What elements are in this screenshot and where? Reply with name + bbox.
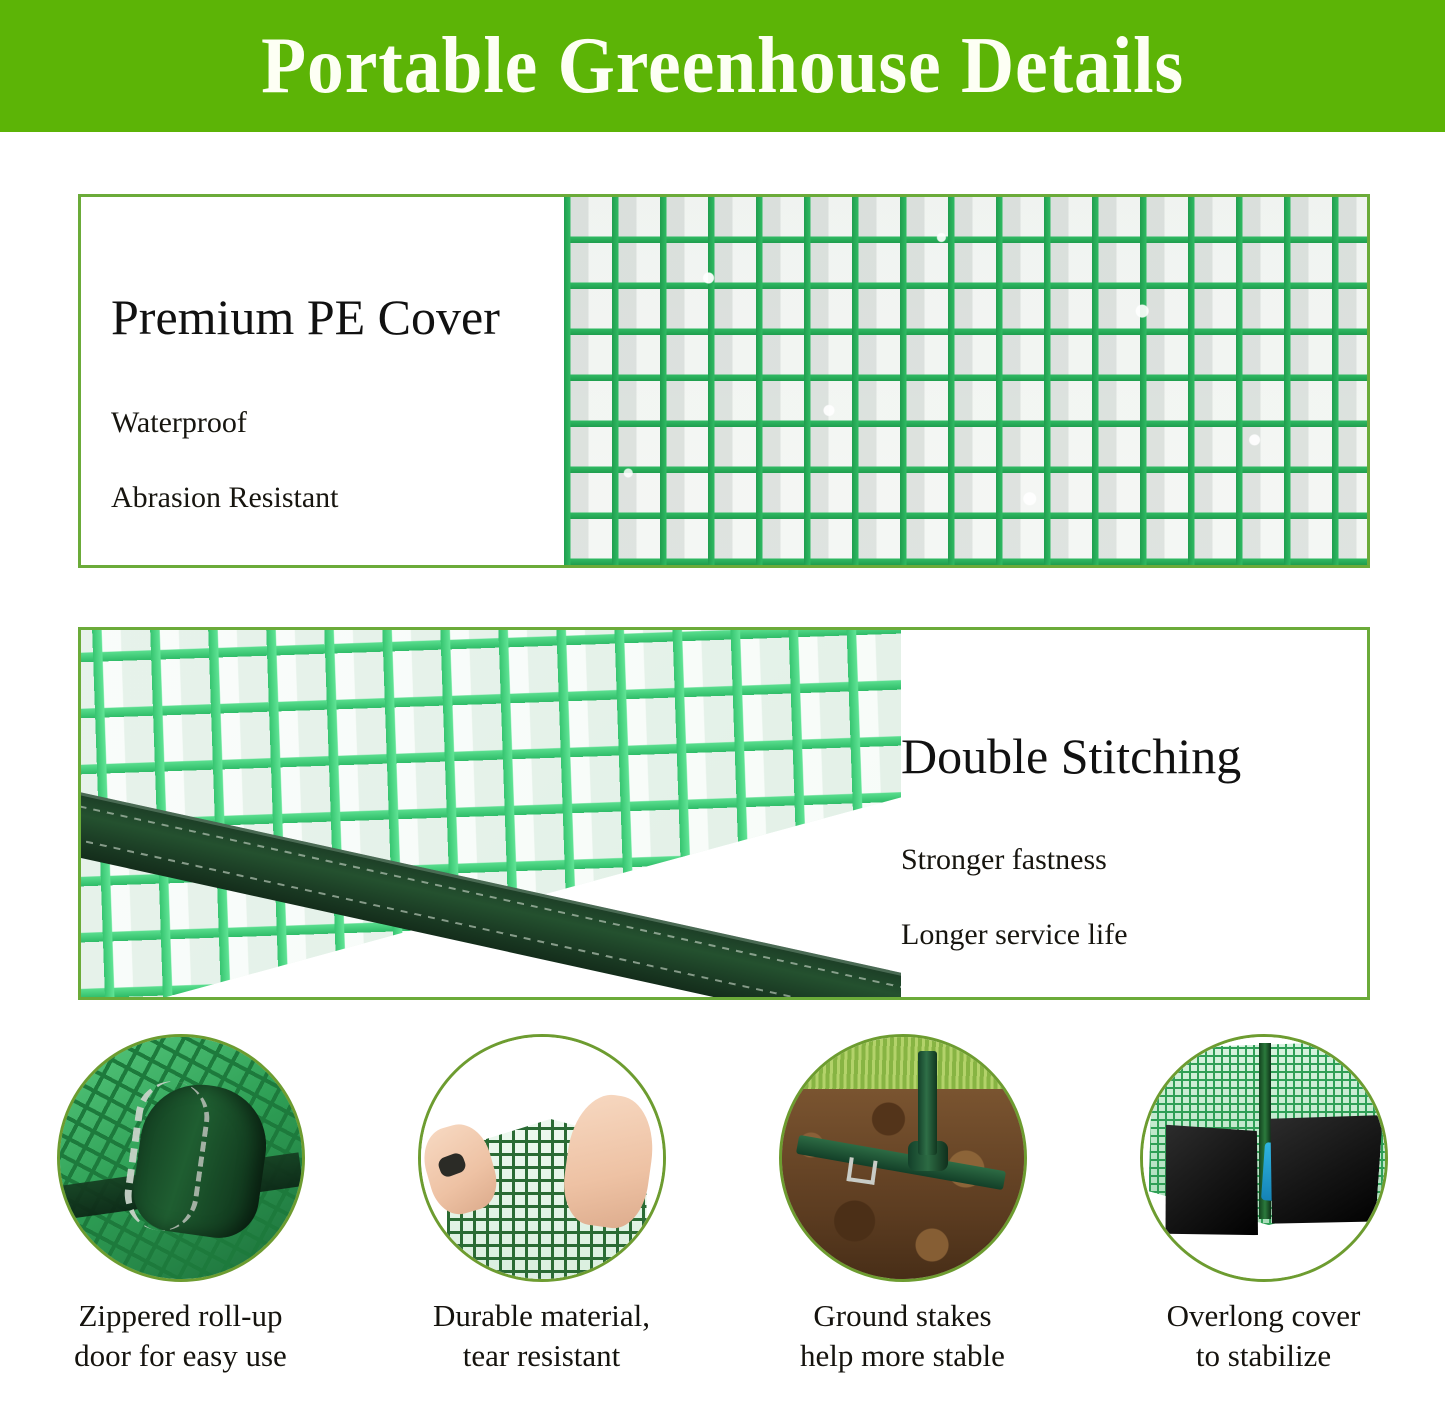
feature-caption-line-1: Overlong cover [1167, 1296, 1361, 1336]
hands-stretching-mesh-photo [418, 1034, 666, 1282]
panel-premium-pe-cover: Premium PE Cover Waterproof Abrasion Res… [78, 194, 1370, 568]
feature-caption-line-2: door for easy use [74, 1336, 287, 1376]
ground-stake-icon [846, 1157, 877, 1185]
panel-pe-cover-text: Premium PE Cover Waterproof Abrasion Res… [111, 291, 500, 514]
feature-caption-line-1: Zippered roll-up [74, 1296, 287, 1336]
panel-pe-cover-heading: Premium PE Cover [111, 291, 500, 344]
feature-item-overlong-cover: Overlong cover to stabilize [1083, 1034, 1444, 1404]
feature-caption-overlong-cover: Overlong cover to stabilize [1167, 1296, 1361, 1375]
sandbag-scene [1143, 1037, 1385, 1279]
panel-double-stitching-text: Double Stitching Stronger fastness Longe… [901, 730, 1241, 951]
panel-double-stitching: Double Stitching Stronger fastness Longe… [78, 627, 1370, 1000]
sandbags-on-greenhouse-base-photo [1140, 1034, 1388, 1282]
pe-mesh-waterdrops-photo [564, 197, 1367, 565]
frame-tube-vertical [918, 1051, 937, 1155]
hands-scene [421, 1037, 663, 1279]
feature-caption-line-1: Durable material, [433, 1296, 650, 1336]
feature-caption-line-2: tear resistant [433, 1336, 650, 1376]
feature-item-durable-material: Durable material, tear resistant [361, 1034, 722, 1404]
panel-double-stitching-bullet-2: Longer service life [901, 918, 1241, 951]
feature-item-ground-stakes: Ground stakes help more stable [722, 1034, 1083, 1404]
feature-item-zippered-door: Zippered roll-up door for easy use [0, 1034, 361, 1404]
double-stitched-hem-photo [81, 630, 901, 997]
feature-caption-line-2: help more stable [800, 1336, 1005, 1376]
sandbag-right-icon [1263, 1107, 1383, 1231]
header-banner: Portable Greenhouse Details [0, 0, 1445, 132]
panel-pe-cover-bullet-2: Abrasion Resistant [111, 481, 500, 514]
feature-caption-durable-material: Durable material, tear resistant [433, 1296, 650, 1375]
panel-pe-cover-bullet-1: Waterproof [111, 406, 500, 439]
page-title: Portable Greenhouse Details [261, 26, 1184, 106]
feature-caption-line-1: Ground stakes [800, 1296, 1005, 1336]
zippered-rollup-door-photo [57, 1034, 305, 1282]
feature-caption-ground-stakes: Ground stakes help more stable [800, 1296, 1005, 1375]
feature-highlights-row: Zippered roll-up door for easy use Durab… [0, 1034, 1445, 1404]
panel-double-stitching-heading: Double Stitching [901, 730, 1241, 783]
soil-scene [782, 1037, 1024, 1279]
feature-caption-zippered-door: Zippered roll-up door for easy use [74, 1296, 287, 1375]
ground-stake-in-soil-photo [779, 1034, 1027, 1282]
infographic-page: Portable Greenhouse Details Premium PE C… [0, 0, 1445, 1404]
panel-double-stitching-bullet-1: Stronger fastness [901, 843, 1241, 876]
sandbag-left-icon [1156, 1117, 1266, 1243]
feature-caption-line-2: to stabilize [1167, 1336, 1361, 1376]
